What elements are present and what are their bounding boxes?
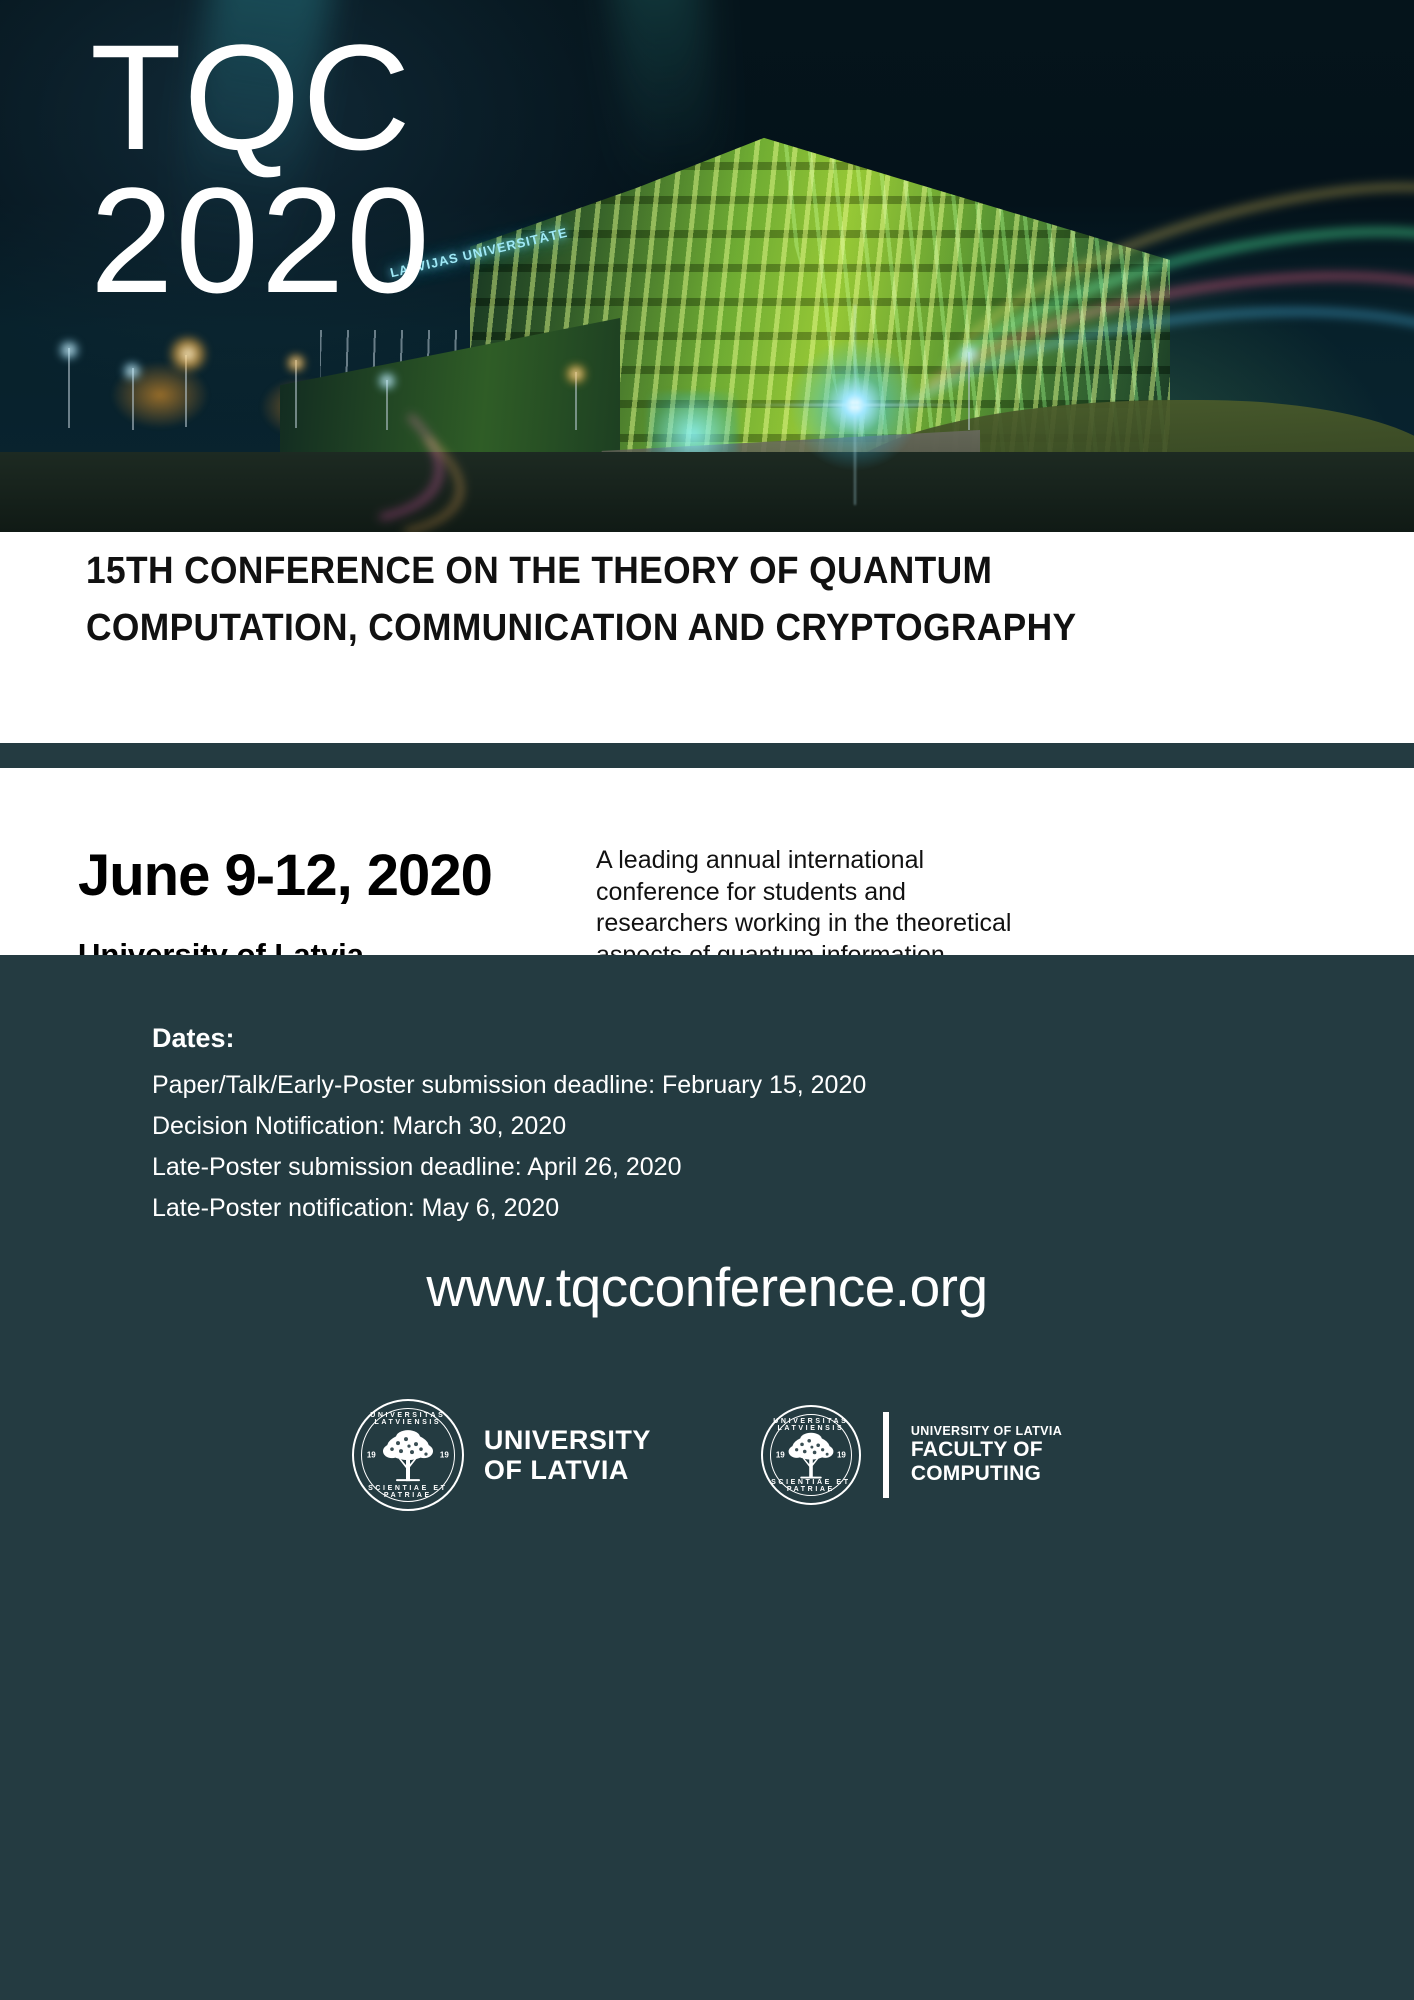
oak-tree-icon (782, 1430, 840, 1482)
sponsor-logos: UNIVERSITAS LATVIENSIS SCIENTIAE ET PATR… (0, 1385, 1414, 1525)
university-of-latvia-logo: UNIVERSITAS LATVIENSIS SCIENTIAE ET PATR… (352, 1399, 651, 1511)
conference-website-link[interactable]: www.tqcconference.org (0, 1255, 1414, 1319)
tqc-wordmark: TQC 2020 (90, 26, 432, 311)
event-dates: June 9-12, 2020 (78, 842, 492, 909)
hero-photo: LATVIJAS UNIVERSITĀTE TQC 2020 (0, 0, 1414, 532)
deadlines-panel: Dates: Paper/Talk/Early-Poster submissio… (0, 955, 1414, 2000)
conference-title-block: 15TH CONFERENCE ON THE THEORY OF QUANTUM… (0, 532, 1414, 743)
lamp-glow-icon (375, 372, 399, 390)
seal-arc-top-text: UNIVERSITAS LATVIENSIS (354, 1412, 462, 1426)
lamp-glow-icon (956, 344, 982, 364)
deadline-item: Paper/Talk/Early-Poster submission deadl… (152, 1065, 866, 1106)
wordmark-line-2: 2020 (90, 169, 432, 312)
faculty-of-computing-logo: UNIVERSITAS LATVIENSIS SCIENTIAE ET PATR… (761, 1405, 1062, 1505)
deadline-item: Decision Notification: March 30, 2020 (152, 1106, 866, 1147)
logo-text-small: UNIVERSITY OF LATVIA (911, 1424, 1062, 1438)
oak-tree-icon (376, 1427, 440, 1485)
street-lamp-icon (68, 348, 70, 428)
conference-title-line-1: 15TH CONFERENCE ON THE THEORY OF QUANTUM (86, 550, 992, 593)
lamp-glow-icon (120, 362, 144, 380)
lamp-glow-icon (284, 354, 308, 372)
logo-text-line-1: UNIVERSITY (484, 1425, 651, 1455)
logo-text: UNIVERSITY OF LATVIA FACULTY OF COMPUTIN… (911, 1424, 1062, 1485)
lamp-starburst-icon (780, 330, 930, 480)
deadlines-list: Paper/Talk/Early-Poster submission deadl… (152, 1065, 866, 1229)
lamp-glow-icon (563, 364, 589, 384)
seal-arc-bottom-text: SCIENTIAE ET PATRIAE (354, 1485, 462, 1499)
deadline-item: Late-Poster notification: May 6, 2020 (152, 1188, 866, 1229)
logo-text-line-2: COMPUTING (911, 1462, 1062, 1486)
event-info-block: June 9-12, 2020 University of Latvia Rig… (0, 768, 1414, 960)
seal-year-right: 19 (440, 1451, 449, 1460)
logo-text-line-2: OF LATVIA (484, 1455, 651, 1485)
university-seal-icon: UNIVERSITAS LATVIENSIS SCIENTIAE ET PATR… (352, 1399, 464, 1511)
logo-text-line-1: FACULTY OF (911, 1438, 1062, 1462)
conference-title-line-2: COMPUTATION, COMMUNICATION AND CRYPTOGRA… (86, 607, 1076, 650)
conference-poster: LATVIJAS UNIVERSITĀTE TQC 2020 15TH CONF… (0, 0, 1414, 2000)
lamp-glow-icon (56, 340, 82, 360)
logo-text: UNIVERSITY OF LATVIA (484, 1425, 651, 1485)
deadline-item: Late-Poster submission deadline: April 2… (152, 1147, 866, 1188)
logo-divider (883, 1412, 889, 1498)
university-seal-icon: UNIVERSITAS LATVIENSIS SCIENTIAE ET PATR… (761, 1405, 861, 1505)
deadlines-heading: Dates: (152, 1023, 235, 1054)
lamp-glow-icon (166, 336, 210, 372)
section-divider-bar (0, 743, 1414, 768)
seal-year-left: 19 (367, 1451, 376, 1460)
